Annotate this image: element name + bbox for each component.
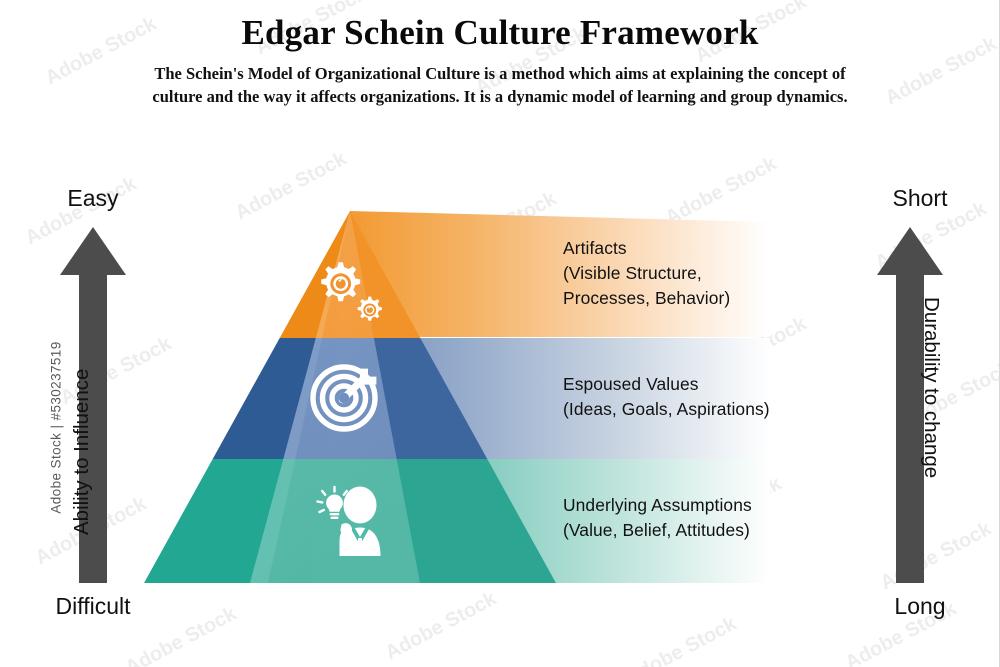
level-label-espoused-values: Espoused Values (Ideas, Goals, Aspiratio… (563, 372, 770, 422)
level-subtitle-espoused-values: (Ideas, Goals, Aspirations) (563, 397, 770, 422)
right-axis: Short Durability to change Long (845, 185, 995, 625)
level-label-underlying-assumptions: Underlying Assumptions (Value, Belief, A… (563, 493, 752, 543)
level-subtitle-underlying-assumptions: (Value, Belief, Attitudes) (563, 518, 752, 543)
left-axis-bottom-cap: Difficult (18, 593, 168, 620)
left-axis-label: Ability to Influence (70, 369, 94, 535)
right-axis-label: Durability to change (919, 297, 943, 478)
level-subtitle-artifacts-line2: Processes, Behavior) (563, 286, 730, 311)
left-axis: Easy Ability to Influence Difficult (18, 185, 168, 625)
right-axis-bottom-cap: Long (845, 593, 995, 620)
level-title-artifacts: Artifacts (563, 236, 730, 261)
stock-credit: Adobe Stock | #530237519 (49, 328, 64, 528)
right-axis-top-cap: Short (845, 185, 995, 212)
infographic-canvas: Adobe Stock Adobe Stock Adobe Stock Adob… (0, 0, 1000, 667)
left-axis-top-cap: Easy (18, 185, 168, 212)
level-title-underlying-assumptions: Underlying Assumptions (563, 493, 752, 518)
level-label-artifacts: Artifacts (Visible Structure, Processes,… (563, 236, 730, 311)
level-title-espoused-values: Espoused Values (563, 372, 770, 397)
target-icon (313, 367, 376, 429)
level-subtitle-artifacts-line1: (Visible Structure, (563, 261, 730, 286)
